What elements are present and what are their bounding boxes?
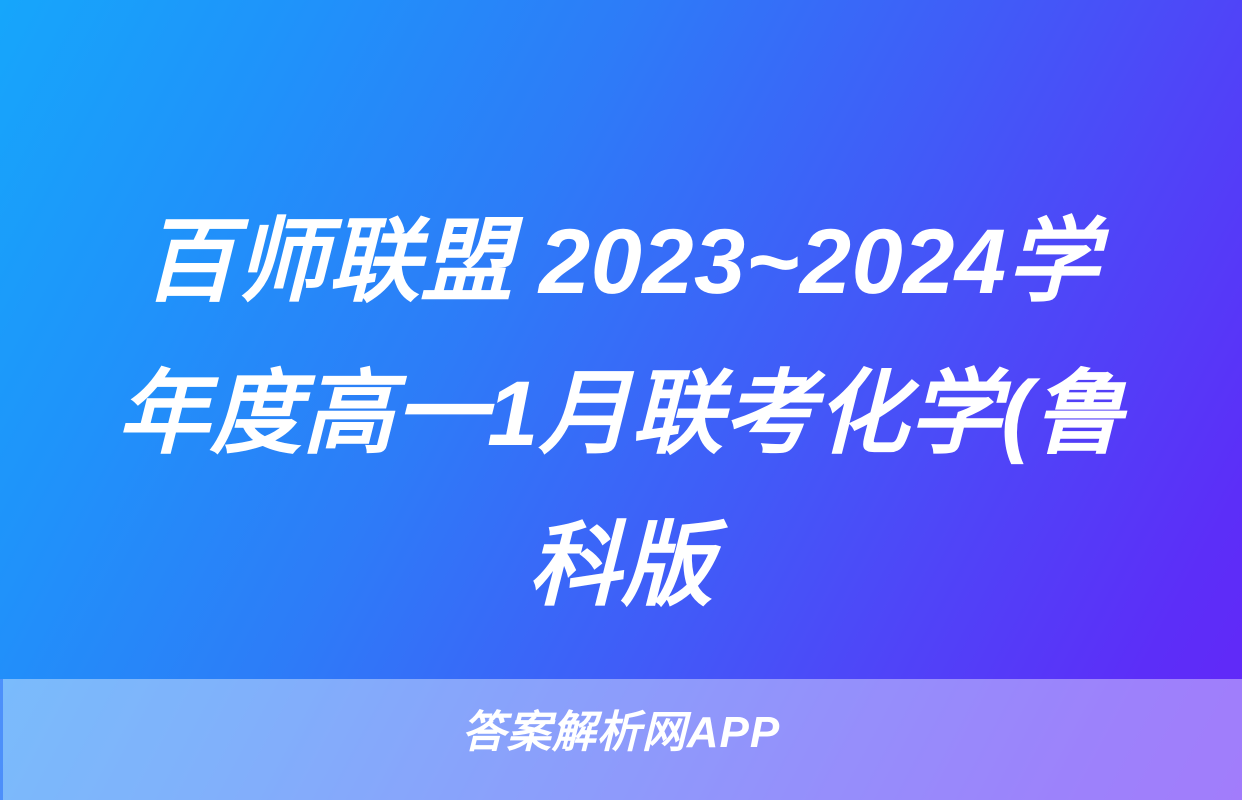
watermark-app-name: 答案解析网APP bbox=[0, 705, 1242, 761]
title-card-screen: 百师联盟 2023~2024学 年度高一1月联考化学(鲁 科版 答案解析网APP bbox=[0, 0, 1242, 800]
title-line-2: 年度高一1月联考化学(鲁 bbox=[0, 338, 1242, 490]
title-line-1: 百师联盟 2023~2024学 bbox=[0, 186, 1242, 338]
title-line-3: 科版 bbox=[0, 490, 1242, 642]
page-title: 百师联盟 2023~2024学 年度高一1月联考化学(鲁 科版 bbox=[0, 186, 1242, 642]
